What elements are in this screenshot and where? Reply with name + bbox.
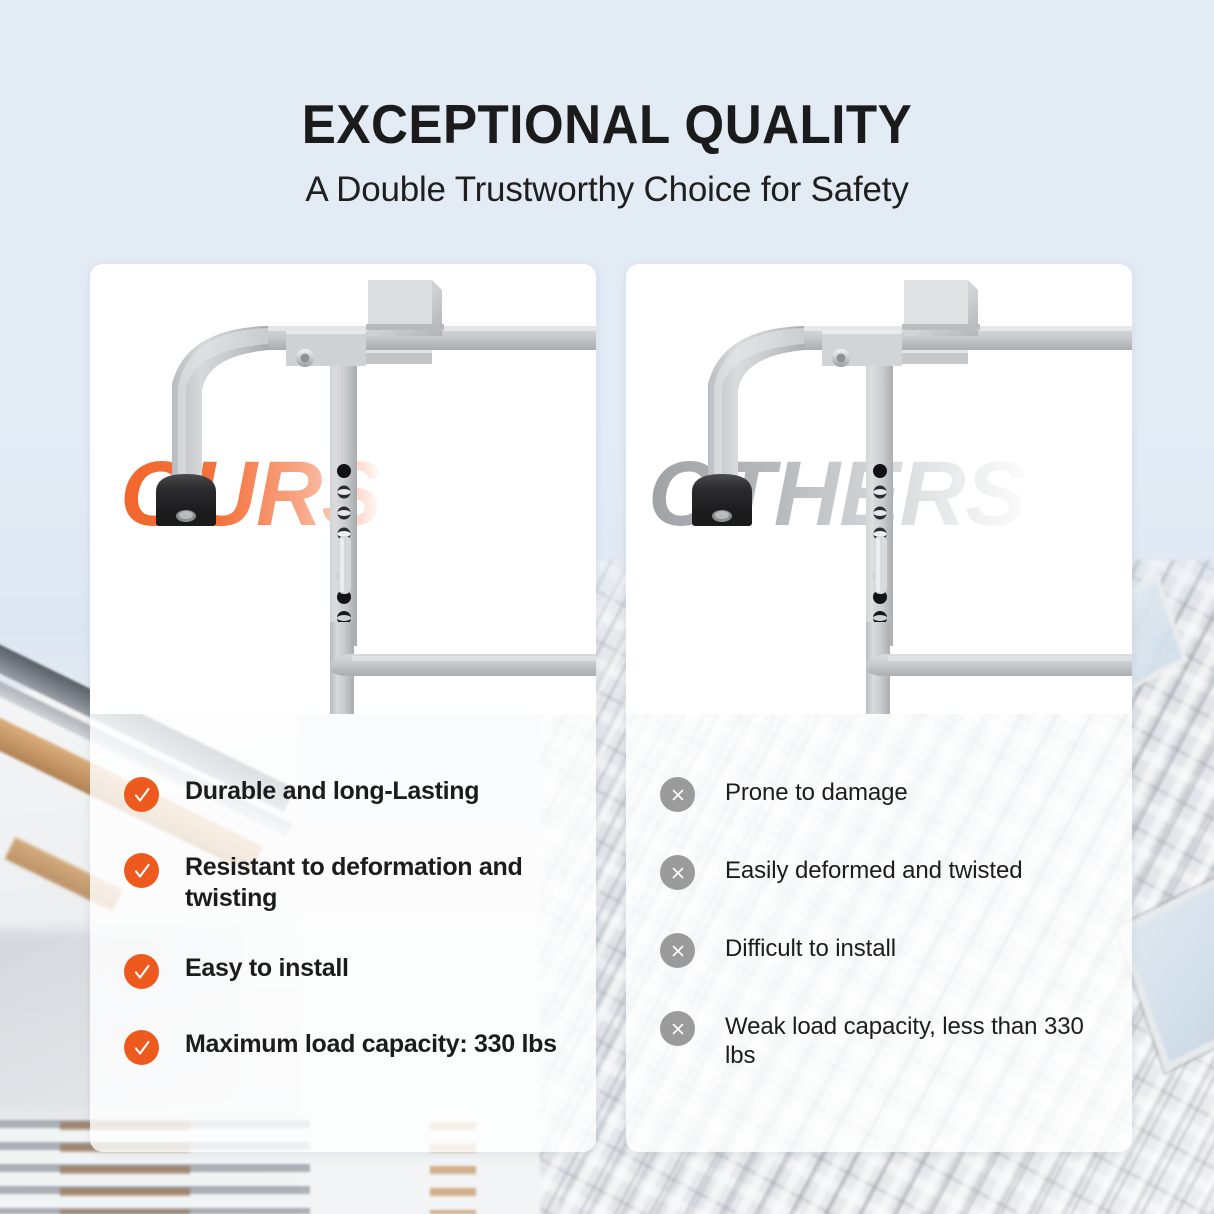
header: EXCEPTIONAL QUALITY A Double Trustworthy… bbox=[0, 96, 1214, 210]
roof-bracket-illustration-others bbox=[626, 264, 1132, 714]
check-icon bbox=[124, 1030, 159, 1065]
check-icon bbox=[124, 954, 159, 989]
feature-label: Weak load capacity, less than 330 lbs bbox=[725, 1010, 1102, 1071]
check-icon bbox=[124, 853, 159, 888]
ours-card: OURS bbox=[90, 264, 596, 1152]
ours-feature-list: Durable and long-Lasting Resistant to de… bbox=[90, 714, 596, 1105]
feature-label: Maximum load capacity: 330 lbs bbox=[185, 1029, 557, 1060]
page-subtitle: A Double Trustworthy Choice for Safety bbox=[0, 170, 1214, 210]
x-icon bbox=[660, 855, 695, 890]
comparison-cards: OURS bbox=[90, 264, 1132, 1152]
feature-label: Difficult to install bbox=[725, 932, 896, 963]
others-card: OTHERS bbox=[626, 264, 1132, 1152]
ours-feature-panel: Durable and long-Lasting Resistant to de… bbox=[90, 714, 596, 1152]
list-item: Difficult to install bbox=[660, 932, 1102, 968]
list-item: Easily deformed and twisted bbox=[660, 854, 1102, 890]
feature-label: Prone to damage bbox=[725, 776, 908, 807]
check-icon bbox=[124, 777, 159, 812]
list-item: Durable and long-Lasting bbox=[124, 776, 566, 812]
list-item: Weak load capacity, less than 330 lbs bbox=[660, 1010, 1102, 1071]
list-item: Maximum load capacity: 330 lbs bbox=[124, 1029, 566, 1065]
list-item: Prone to damage bbox=[660, 776, 1102, 812]
others-product-photo: OTHERS bbox=[626, 264, 1132, 714]
x-icon bbox=[660, 777, 695, 812]
feature-label: Durable and long-Lasting bbox=[185, 776, 479, 807]
list-item: Resistant to deformation and twisting bbox=[124, 852, 566, 913]
x-icon bbox=[660, 1011, 695, 1046]
roof-bracket-illustration bbox=[90, 264, 596, 714]
others-feature-panel: Prone to damage Easily deformed and twis… bbox=[626, 714, 1132, 1152]
list-item: Easy to install bbox=[124, 953, 566, 989]
feature-label: Easily deformed and twisted bbox=[725, 854, 1022, 885]
page-title: EXCEPTIONAL QUALITY bbox=[42, 96, 1171, 154]
feature-label: Easy to install bbox=[185, 953, 349, 984]
x-icon bbox=[660, 933, 695, 968]
others-feature-list: Prone to damage Easily deformed and twis… bbox=[626, 714, 1132, 1113]
ours-product-photo: OURS bbox=[90, 264, 596, 714]
feature-label: Resistant to deformation and twisting bbox=[185, 852, 566, 913]
